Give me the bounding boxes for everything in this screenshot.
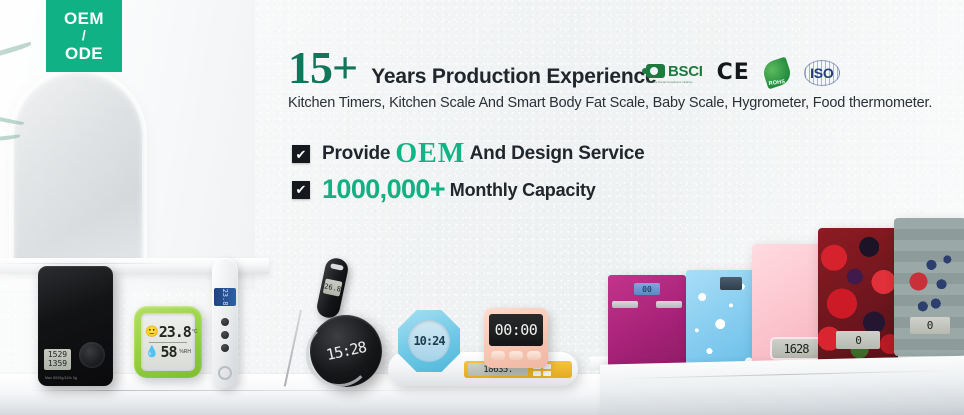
black-kitchen-scale: 1529 1359 Max 5000g/11lb 3g	[38, 266, 113, 386]
bsci-sublabel: Business Social Compliance Initiative	[646, 81, 693, 84]
iso-label: ISO	[810, 65, 834, 81]
certification-badges: BSCI Business Social Compliance Initiati…	[646, 60, 840, 86]
black-scale-brand: Max 5000g/11lb 3g	[45, 376, 77, 380]
electrode-pad	[656, 301, 682, 308]
pink-timer-button	[527, 351, 541, 360]
berry-scale-display: 0	[836, 331, 880, 349]
ce-label: CE	[717, 62, 750, 84]
oem-badge-slash: /	[82, 28, 86, 43]
wood-scale-display: 0	[910, 317, 950, 334]
baby-scale-button	[533, 371, 541, 376]
right-counter-surface	[600, 355, 964, 415]
baby-scale-button	[543, 371, 551, 376]
pink-timer-button	[509, 351, 523, 360]
bsci-label: BSCI	[668, 63, 703, 80]
bullet1-highlight: OEM	[395, 138, 465, 169]
bsci-camera-icon	[646, 64, 665, 78]
bullet1-prefix: Provide	[322, 143, 390, 164]
oem-badge-line2: ODE	[65, 44, 103, 64]
probe-hang-slot	[330, 263, 344, 271]
bullet1-suffix: And Design Service	[470, 143, 645, 164]
promotional-banner: OEM / ODE 15+ Years Production Experienc…	[0, 0, 964, 415]
white-thermometer-display: 23.8	[214, 288, 236, 306]
hygrometer-humidity-unit: %RH	[179, 350, 191, 355]
white-folding-thermometer: 23.8	[212, 258, 238, 388]
checkmark-icon: ✔	[292, 181, 310, 199]
feature-bullet-capacity: ✔ 1000,000+ Monthly Capacity	[292, 174, 596, 205]
pink-scale-display: 1628	[772, 339, 820, 358]
rohs-badge: ROHS	[764, 60, 790, 86]
bullet2-highlight: 1000,000+	[322, 174, 445, 204]
checkmark-icon: ✔	[292, 145, 310, 163]
ce-badge: CE	[717, 62, 750, 84]
headline: 15+ Years Production Experience	[288, 45, 656, 91]
iso-badge: ISO	[804, 60, 840, 86]
pink-timer-buttons	[489, 351, 543, 360]
blue-scale-display	[720, 277, 742, 290]
water-drop-icon: 💧	[145, 347, 159, 358]
hygrometer-temp-unit: °C	[192, 330, 198, 335]
green-hygrometer: 🙂 23.8 °C 💧 58 %RH	[134, 306, 202, 378]
purple-body-fat-scale: 00	[608, 275, 686, 373]
wood-print-kitchen-scale: 0	[894, 218, 964, 356]
years-text: Years Production Experience	[371, 65, 656, 89]
feature-bullet-oem: ✔ Provide OEM And Design Service	[292, 138, 645, 170]
thermometer-button	[221, 344, 229, 352]
thermometer-hook	[218, 366, 232, 380]
face-icon: 🙂	[145, 327, 159, 338]
bullet2-suffix: Monthly Capacity	[450, 180, 596, 200]
purple-scale-display: 00	[634, 283, 660, 295]
probe-thermometer: 26.8	[315, 256, 350, 319]
probe-display: 26.8	[323, 278, 343, 296]
oem-ode-badge: OEM / ODE	[46, 0, 122, 72]
black-scale-value-bottom: 1359	[48, 360, 67, 368]
round-black-timer: 15:28	[310, 315, 382, 387]
bsci-badge: BSCI Business Social Compliance Initiati…	[646, 63, 703, 84]
hygrometer-humidity: 58	[160, 345, 176, 360]
product-categories-text: Kitchen Timers, Kitchen Scale And Smart …	[288, 95, 958, 111]
thermometer-button	[221, 331, 229, 339]
pink-square-timer: 00:00	[484, 308, 548, 368]
pink-timer-button	[491, 351, 505, 360]
black-scale-dial	[79, 342, 105, 368]
berry-print-kitchen-scale: 0	[818, 228, 898, 363]
octagon-timer-display: 10:24	[413, 334, 444, 348]
pink-timer-display: 00:00	[489, 314, 543, 346]
hygrometer-temperature: 23.8	[159, 325, 191, 340]
electrode-pad	[612, 301, 638, 308]
thermometer-button	[221, 318, 229, 326]
black-scale-display: 1529 1359	[44, 349, 71, 370]
years-number: 15+	[288, 45, 357, 91]
oem-badge-line1: OEM	[64, 9, 104, 29]
arch-mirror	[14, 73, 142, 263]
